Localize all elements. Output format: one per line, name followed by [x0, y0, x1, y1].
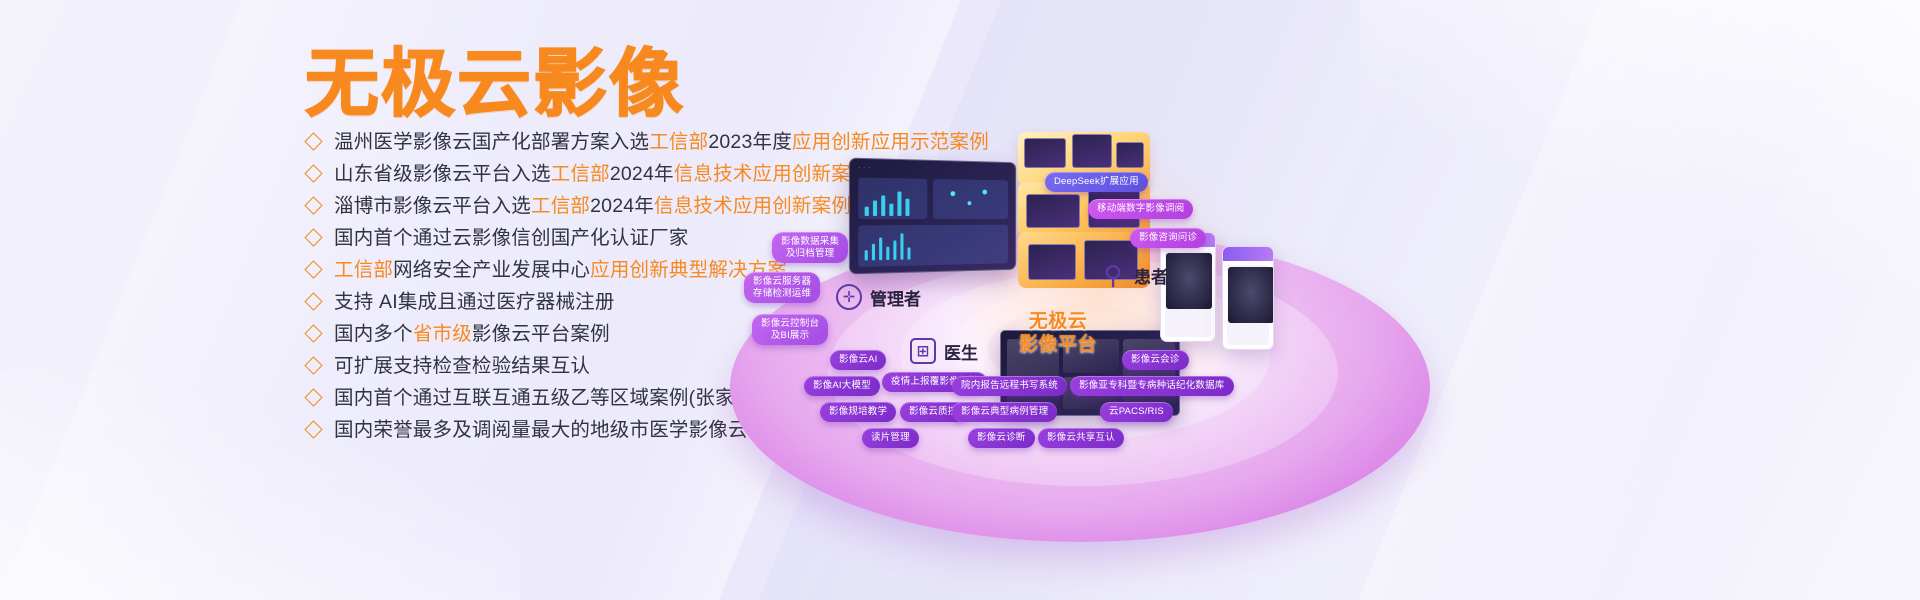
xray-thumbnail	[1166, 253, 1212, 309]
pill-console-bi[interactable]: 影像云控制台 及BI展示	[752, 314, 828, 345]
diamond-bullet-icon	[304, 292, 322, 310]
diamond-bullet-icon	[304, 260, 322, 278]
feature-list-item-text: 国内首个通过互联互通五级乙等区域案例(张家港)	[334, 382, 761, 414]
diamond-bullet-icon	[304, 356, 322, 374]
tower-screen	[1026, 194, 1080, 228]
highlight-text: 省市级	[413, 323, 472, 345]
tower-screen	[1116, 142, 1144, 168]
pill-tele-consult[interactable]: 影像云会诊	[1122, 350, 1189, 370]
pill-special-db[interactable]: 影像亚专科暨专病种话纪化数据库	[1070, 376, 1234, 396]
dashboard-dot	[968, 201, 972, 205]
diamond-bullet-icon	[304, 132, 322, 150]
dashboard-dot	[982, 190, 987, 195]
plain-text: 2024年	[590, 195, 654, 217]
role-patient[interactable]: ⚲ 患者	[1100, 262, 1168, 288]
plain-text: 温州医学影像云国产化部署方案入选	[334, 131, 649, 153]
feature-list-item-text: 国内多个省市级影像云平台案例	[334, 318, 610, 350]
pill-image-consult[interactable]: 影像咨询问诊	[1130, 228, 1206, 248]
diamond-bullet-icon	[304, 228, 322, 246]
plain-text: 支持 AI集成且通过医疗器械注册	[334, 291, 615, 313]
diamond-bullet-icon	[304, 420, 322, 438]
dashboard-dot	[950, 191, 955, 196]
feature-list-item-text: 支持 AI集成且通过医疗器械注册	[334, 286, 615, 318]
plain-text: 山东省级影像云平台入选	[334, 163, 551, 185]
dashboard-bar	[879, 238, 882, 261]
pill-cloud-diagnosis[interactable]: 影像云诊断	[968, 428, 1035, 448]
pill-cloud-ai[interactable]: 影像云AI	[830, 350, 886, 370]
plus-circle-icon: ✛	[836, 284, 862, 310]
dashboard-bar	[900, 233, 903, 259]
tower-screen	[1072, 134, 1112, 168]
pill-data-collect[interactable]: 影像数据采集 及归档管理	[772, 232, 848, 263]
phone-header	[1223, 247, 1273, 261]
plain-text: 网络安全产业发展中心	[393, 259, 590, 281]
feature-list-item-text: 国内首个通过云影像信创国产化认证厂家	[334, 222, 689, 254]
analytics-dashboard-mockup: · · ·	[849, 158, 1016, 275]
dashboard-bar	[886, 247, 889, 260]
dashboard-bar	[881, 195, 885, 216]
pill-ai-model[interactable]: 影像AI大模型	[804, 376, 880, 396]
pill-deepseek[interactable]: DeepSeek扩展应用	[1045, 172, 1148, 192]
diamond-bullet-icon	[304, 196, 322, 214]
dashboard-bar	[897, 192, 901, 216]
dashboard-bar	[893, 240, 896, 259]
pill-typical-cases[interactable]: 影像云典型病例管理	[952, 402, 1057, 422]
page-title: 无极云影像	[305, 24, 685, 131]
plain-text: 可扩展支持检查检验结果互认	[334, 355, 590, 377]
tower-screen	[1028, 244, 1076, 280]
role-patient-label: 患者	[1134, 263, 1168, 288]
role-administrator[interactable]: ✛ 管理者	[836, 284, 921, 310]
diamond-bullet-icon	[304, 164, 322, 182]
highlight-text: 工信部	[551, 163, 610, 185]
phone-mockup-xray	[1160, 232, 1216, 342]
hospital-square-icon: ⊞	[910, 338, 936, 364]
platform-center-line2: 影像平台	[1019, 333, 1097, 355]
plain-text: 影像云平台案例	[472, 323, 610, 345]
person-icon: ⚲	[1100, 262, 1126, 288]
pill-read-mgmt[interactable]: 读片管理	[862, 428, 919, 448]
phone-mockup-report	[1222, 246, 1274, 350]
platform-center-line1: 无极云	[1029, 310, 1088, 332]
central-server-tower	[1018, 132, 1150, 322]
pill-norm-teaching[interactable]: 影像规培教学	[820, 402, 896, 422]
feature-list-item-text: 可扩展支持检查检验结果互认	[334, 350, 590, 382]
dashboard-title-placeholder: · · ·	[858, 165, 870, 171]
highlight-text: 工信部	[334, 259, 393, 281]
dashboard-bar	[889, 204, 893, 216]
diamond-bullet-icon	[304, 324, 322, 342]
plain-text: 国内多个	[334, 323, 413, 345]
dashboard-bar	[905, 199, 909, 216]
role-administrator-label: 管理者	[870, 285, 921, 310]
diamond-bullet-icon	[304, 388, 322, 406]
tower-screen	[1024, 138, 1066, 168]
pill-mobile-query[interactable]: 移动端数字影像调阅	[1088, 199, 1193, 219]
dashboard-panel	[933, 179, 1008, 219]
pill-pacs-ris[interactable]: 云PACS/RIS	[1100, 402, 1173, 422]
dashboard-bar	[865, 250, 868, 260]
dashboard-bar	[907, 247, 910, 259]
plain-text: 国内首个通过互联互通五级乙等区域案例(张家港)	[334, 387, 761, 409]
pill-server-storage[interactable]: 影像云服务器 存储检测运维	[744, 272, 820, 303]
pill-remote-report[interactable]: 院内报告远程书写系统	[952, 376, 1067, 396]
dashboard-bar	[872, 244, 875, 261]
pill-share-confirm[interactable]: 影像云共享互认	[1038, 428, 1124, 448]
highlight-text: 工信部	[531, 195, 590, 217]
plain-text: 国内首个通过云影像信创国产化认证厂家	[334, 227, 689, 249]
dashboard-bar	[865, 207, 869, 216]
plain-text: 淄博市影像云平台入选	[334, 195, 531, 217]
platform-center-label: 无极云 影像平台	[968, 310, 1148, 356]
platform-architecture-diagram: · · ·	[700, 120, 1920, 600]
dashboard-bar	[873, 201, 877, 216]
banner-stage: 无极云影像 温州医学影像云国产化部署方案入选工信部2023年度应用创新应用示范案…	[0, 0, 1920, 600]
plain-text: 2024年	[610, 163, 674, 185]
xray-thumbnail	[1228, 267, 1274, 323]
